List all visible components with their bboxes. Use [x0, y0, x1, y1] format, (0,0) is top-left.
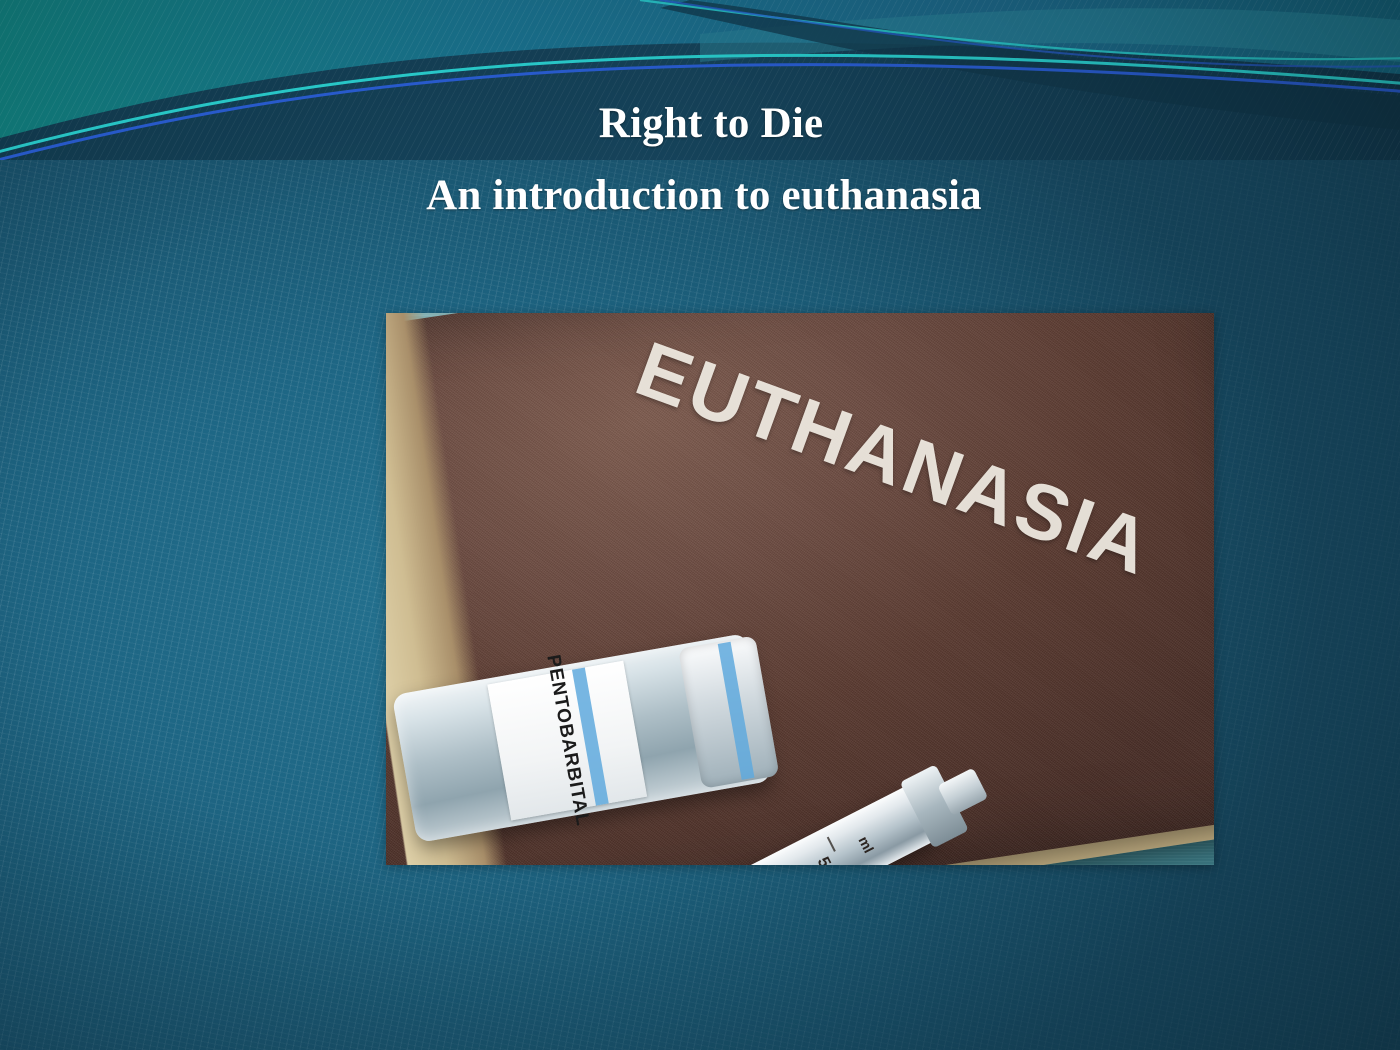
presentation-slide: Right to Die An introduction to euthanas… [0, 0, 1400, 1050]
slide-title: Right to Die An introduction to euthanas… [0, 100, 1400, 220]
vial-label: PENTOBARBITAL [487, 661, 647, 821]
title-line-1: Right to Die [0, 100, 1400, 148]
content-image[interactable]: EUTHANASIA 1 2 3 4 5 ml [386, 313, 1214, 865]
image-composition: EUTHANASIA 1 2 3 4 5 ml [386, 313, 1214, 865]
title-line-2: An introduction to euthanasia [0, 172, 1400, 220]
